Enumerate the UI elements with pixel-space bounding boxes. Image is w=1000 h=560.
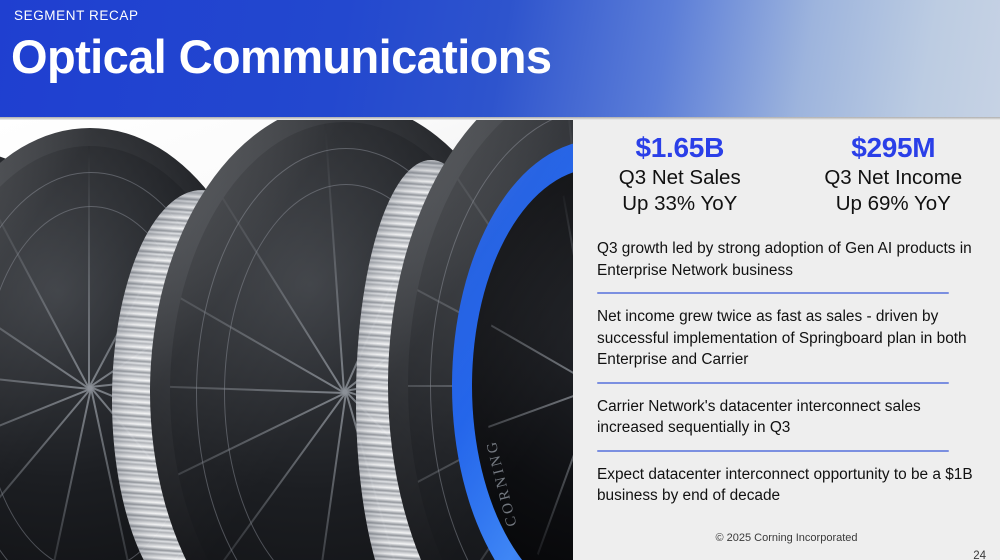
bullet-divider — [597, 382, 949, 384]
metric-label-line1: Q3 Net Income — [787, 165, 1000, 191]
metric-net-income: $295M Q3 Net Income Up 69% YoY — [787, 131, 1000, 217]
fiber-spools-photo: CORNING CORNING — [0, 120, 573, 560]
bullet-divider — [597, 450, 949, 452]
metric-value: $295M — [787, 131, 1000, 165]
page-title: Optical Communications — [11, 29, 551, 85]
metric-net-sales: $1.65B Q3 Net Sales Up 33% YoY — [573, 131, 787, 217]
metric-label-line2: Up 69% YoY — [787, 191, 1000, 217]
bullet-item: Net income grew twice as fast as sales -… — [597, 306, 977, 371]
page-number: 24 — [973, 550, 986, 560]
slide-header: SEGMENT RECAP Optical Communications — [0, 0, 1000, 117]
metrics-row: $1.65B Q3 Net Sales Up 33% YoY $295M Q3 … — [573, 131, 1000, 217]
slide: SEGMENT RECAP Optical Communications — [0, 0, 1000, 560]
bullet-divider — [597, 292, 949, 294]
copyright-notice: © 2025 Corning Incorporated — [573, 532, 1000, 544]
bullet-item: Q3 growth led by strong adoption of Gen … — [597, 238, 977, 281]
bullet-item: Expect datacenter interconnect opportuni… — [597, 464, 977, 507]
metric-value: $1.65B — [573, 131, 787, 165]
eyebrow-label: SEGMENT RECAP — [14, 8, 139, 23]
bullet-list: Q3 growth led by strong adoption of Gen … — [597, 238, 977, 507]
metric-label-line1: Q3 Net Sales — [573, 165, 787, 191]
bullet-item: Carrier Network's datacenter interconnec… — [597, 396, 977, 439]
content-panel: $1.65B Q3 Net Sales Up 33% YoY $295M Q3 … — [573, 120, 1000, 560]
metric-label-line2: Up 33% YoY — [573, 191, 787, 217]
